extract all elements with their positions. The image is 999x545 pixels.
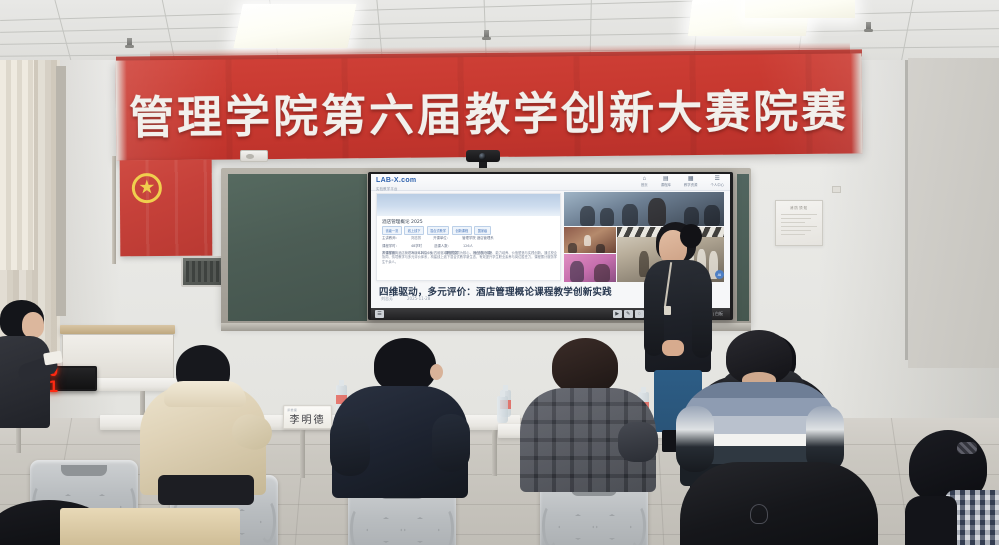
nav-icon: ▦	[684, 176, 698, 183]
name-placard: 评委席 李明德	[283, 405, 333, 429]
chair-handle-notch	[61, 465, 107, 476]
chalkboard-surface-left	[228, 174, 367, 321]
notice-line	[781, 214, 817, 215]
chalkboard-surface-right	[737, 174, 749, 321]
audience-attendee-7	[905, 430, 999, 545]
right-side-wall	[908, 58, 999, 368]
wall-corner	[905, 60, 908, 360]
arm-right	[618, 422, 658, 462]
ceiling-sensor	[240, 150, 268, 162]
camera-icon	[466, 150, 500, 162]
nav-item-0[interactable]: ⌂ 首页	[641, 176, 648, 188]
placard-name-text: 李明德	[284, 415, 331, 426]
banner-title: 管理学院第六届教学创新大赛院赛	[116, 74, 863, 146]
sprinkler-3	[866, 22, 871, 31]
meta-key: 选课人数：	[434, 243, 451, 248]
course-tag-1: 线上线下	[404, 226, 424, 235]
arm-left	[330, 416, 370, 476]
wall-speaker	[181, 256, 225, 287]
classroom-photo-scene: 管理学院第六届教学创新大赛院赛 ★ LAB-X.com 实验教学平台 ⌂ 首页 …	[0, 0, 999, 545]
toolbar-tool-1[interactable]: ✎	[624, 310, 633, 318]
water-bottle-4	[497, 396, 508, 423]
collar-fur	[164, 381, 246, 407]
wall-notice: 消防须知	[775, 200, 823, 246]
course-tag-3: 创新课程	[452, 226, 472, 235]
event-banner: 管理学院第六届教学创新大赛院赛	[116, 53, 863, 160]
collage-photo-classroom	[564, 192, 724, 226]
table-leg	[492, 430, 497, 476]
star-icon: ★	[138, 178, 155, 197]
chair-diamond-pattern	[366, 517, 438, 539]
chair-arc-right	[259, 499, 276, 543]
notice-line	[781, 218, 811, 219]
flag-emblem-circle: ★	[132, 173, 162, 203]
sprinkler-1	[127, 38, 132, 47]
communist-youth-league-flag: ★	[120, 160, 213, 257]
course-tag-0: 省级一流	[382, 226, 402, 235]
notice-title: 消防须知	[776, 206, 822, 211]
site-logo: LAB-X.com 实验教学平台	[376, 177, 416, 193]
table-leg	[300, 430, 305, 478]
ceiling-light-1	[233, 4, 356, 48]
camera-mount	[479, 161, 487, 168]
sprinkler-2	[484, 30, 489, 39]
head-hair	[552, 338, 618, 394]
chair-arc-right	[437, 507, 454, 545]
audience-judge-left	[0, 300, 70, 430]
chair-arc-left	[350, 507, 367, 545]
slide-subtitle: 刘志芳 2025-11-28	[381, 296, 430, 302]
placard-header: 评委席	[287, 408, 297, 412]
chair-arc-right	[629, 504, 646, 545]
chair-arc-left	[542, 504, 559, 545]
course-tag-4: 国家级	[474, 226, 491, 235]
head-hair	[374, 338, 436, 392]
flag-pole	[112, 156, 116, 264]
meta-key: 课程学时：	[382, 243, 399, 248]
site-nav[interactable]: ⌂ 首页 ▤ 课程库 ▦ 教学资源 ☰ 个人中心	[641, 176, 724, 188]
nav-item-1[interactable]: ▤ 课程库	[661, 176, 671, 188]
course-meta-row: 课程学时： 48学时选课人数： 126人	[382, 243, 557, 248]
nav-icon: ▤	[661, 176, 671, 183]
meta-value: 刘志芳	[411, 235, 421, 240]
slide-presenter: 刘志芳	[381, 296, 393, 302]
wall-small-sign	[832, 186, 841, 193]
bench-surface	[60, 508, 240, 545]
course-description: 本课程面向酒店管理专业本科生，以四维驱动教学模式为核心，融合知识传授、能力培养、…	[382, 251, 557, 264]
nav-label: 课程库	[661, 183, 671, 188]
meta-key: 主讲教师：	[382, 235, 399, 240]
notice-line	[781, 230, 811, 231]
audience-attendee-2	[330, 338, 470, 498]
arm-right	[432, 414, 470, 472]
audience-foreground-bench	[60, 500, 240, 545]
meta-value: 48学时	[411, 243, 422, 248]
collage-photo-auditorium	[564, 227, 616, 253]
nav-icon: ☰	[710, 176, 724, 183]
ceiling-light-4	[745, 0, 855, 18]
meta-key: 开课单位：	[433, 235, 450, 240]
slide-web-header: LAB-X.com 实验教学平台 ⌂ 首页 ▤ 课程库 ▦ 教学资源 ☰ 个人中…	[371, 174, 730, 191]
window-frame	[56, 66, 66, 316]
audience-attendee-1	[140, 345, 270, 495]
hair-clip	[957, 442, 977, 454]
presenter-badge	[664, 306, 671, 315]
nav-label: 教学资源	[684, 183, 698, 188]
nav-item-3[interactable]: ☰ 个人中心	[710, 176, 724, 188]
nav-icon: ⌂	[641, 176, 648, 183]
site-logo-subtitle: 实验教学平台	[376, 185, 416, 193]
audience-attendee-4	[520, 338, 658, 488]
coat-logo-patch	[750, 504, 768, 524]
course-title: 酒店管理概论 2025	[382, 219, 423, 225]
notice-line	[781, 226, 817, 227]
presenter-hair-bun	[680, 224, 702, 248]
collage-photo-lab	[564, 254, 616, 282]
course-info-card: 酒店管理概论 2025 省级一流线上线下混合式教学创新课程国家级 主讲教师： 刘…	[376, 193, 561, 281]
meta-value: 126人	[463, 243, 473, 248]
toolbar-tool-0[interactable]: ▶	[613, 310, 622, 318]
course-meta-row: 主讲教师： 刘志芳开课单位： 管理学院 酒店管理系	[382, 235, 557, 240]
hand-paper	[43, 351, 63, 366]
card-header-band	[377, 194, 560, 216]
window-curtain-inner	[0, 60, 34, 270]
head-face	[22, 312, 44, 338]
notice-line	[781, 222, 805, 223]
course-tag-2: 混合式教学	[427, 226, 450, 235]
slide-date: 2025-11-28	[407, 296, 430, 302]
shoulder-dark	[905, 496, 957, 545]
nav-label: 个人中心	[710, 183, 724, 188]
nav-label: 首页	[641, 183, 648, 188]
notice-line	[781, 234, 805, 235]
head-ear	[430, 364, 443, 380]
torso-darkcoat	[680, 462, 878, 545]
torso	[0, 336, 50, 428]
audience-attendee-6	[680, 462, 880, 545]
nav-item-2[interactable]: ▦ 教学资源	[684, 176, 698, 188]
meta-value: 管理学院 酒店管理系	[462, 235, 494, 240]
course-tags: 省级一流线上线下混合式教学创新课程国家级	[382, 226, 491, 235]
menu-icon[interactable]: ☰	[375, 310, 384, 318]
chair-diamond-pattern	[558, 514, 630, 536]
notice-body-lines	[781, 214, 817, 238]
wall-shelf	[60, 325, 175, 334]
site-logo-text: LAB-X.com	[376, 177, 416, 184]
